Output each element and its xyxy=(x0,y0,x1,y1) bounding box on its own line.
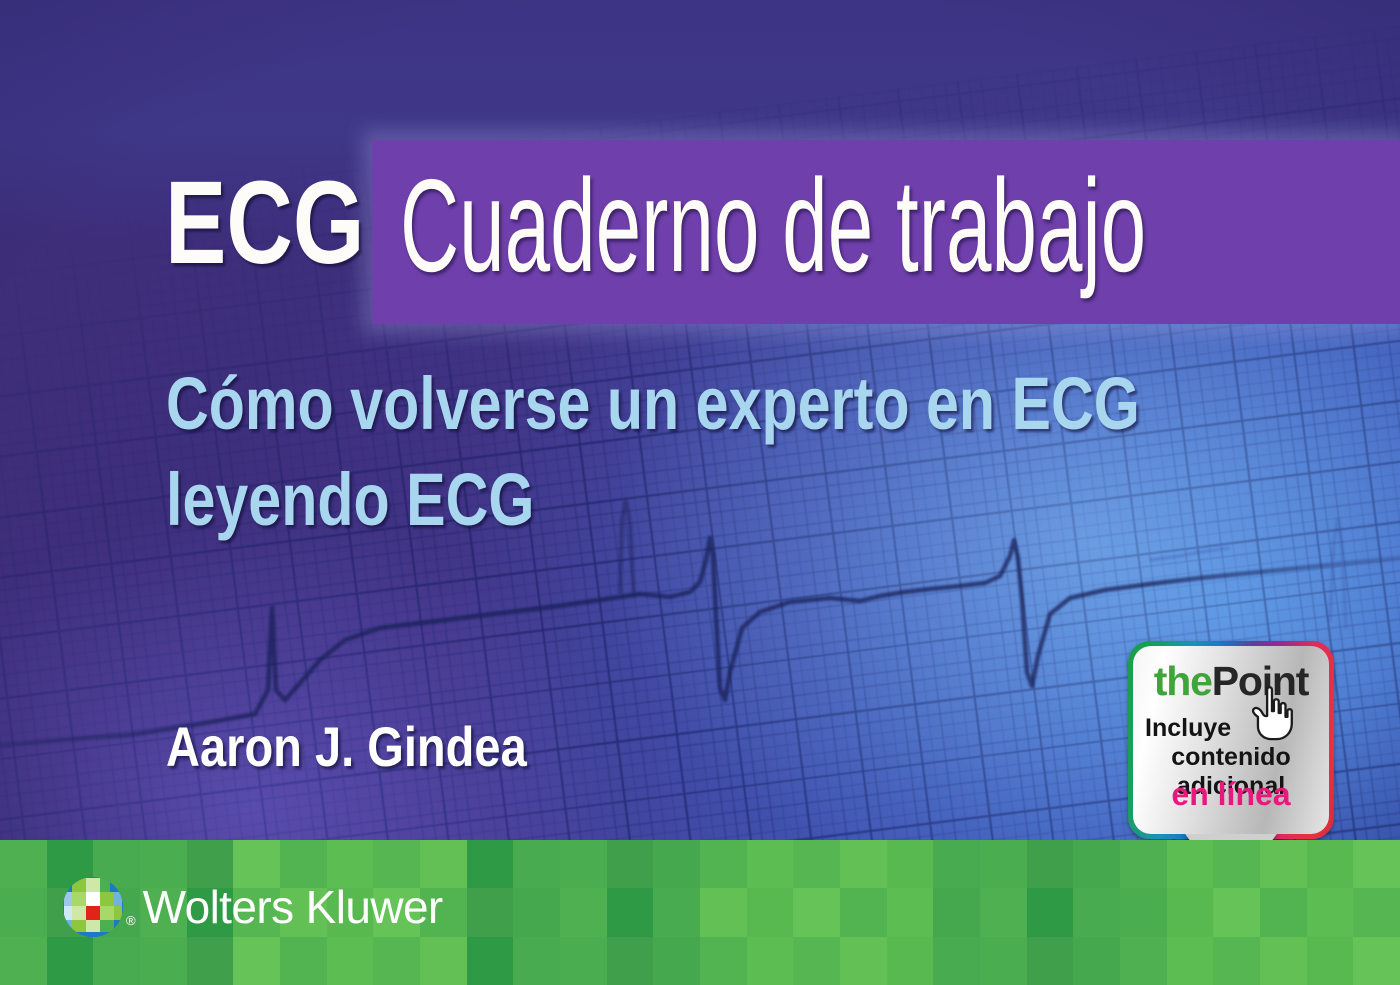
footer-tile xyxy=(467,937,514,985)
footer-tile xyxy=(1120,840,1167,888)
badge-text-line-3: en línea xyxy=(1133,775,1329,813)
footer-tile xyxy=(420,937,467,985)
cover-author: Aaron J. Gindea xyxy=(166,713,527,781)
footer-tile xyxy=(887,937,934,985)
footer-tile xyxy=(1307,937,1354,985)
footer-tile xyxy=(1260,888,1307,936)
footer-tile xyxy=(1307,888,1354,936)
footer-tile xyxy=(1073,840,1120,888)
footer-tile xyxy=(513,937,560,985)
footer-tile xyxy=(1213,840,1260,888)
footer-tile xyxy=(840,937,887,985)
publisher-name: Wolters Kluwer xyxy=(143,881,443,933)
footer-tile xyxy=(47,937,94,985)
book-cover: ECG Cuaderno de trabajo Cómo volverse un… xyxy=(0,0,1400,985)
footer-tile xyxy=(0,888,47,936)
thepoint-logo-the: the xyxy=(1154,658,1212,704)
footer-tile xyxy=(1353,840,1400,888)
footer-tile xyxy=(607,840,654,888)
footer-tile xyxy=(700,937,747,985)
cover-subtitle-line-2: leyendo ECG xyxy=(166,452,1014,548)
footer-tile xyxy=(980,888,1027,936)
footer-tile xyxy=(1027,840,1074,888)
footer-tile xyxy=(560,888,607,936)
wolters-kluwer-globe-icon xyxy=(62,876,124,938)
footer-tile xyxy=(1353,888,1400,936)
footer-tile xyxy=(793,888,840,936)
cover-subtitle-line-1: Cómo volverse un experto en ECG xyxy=(166,356,1014,452)
footer-tile xyxy=(1353,937,1400,985)
cover-main-title: Cuaderno de trabajo xyxy=(400,136,1146,316)
footer-tile xyxy=(653,937,700,985)
footer-tile xyxy=(373,937,420,985)
footer-tile xyxy=(840,840,887,888)
footer-tile xyxy=(700,840,747,888)
footer-tile xyxy=(980,937,1027,985)
footer-tile xyxy=(513,840,560,888)
badge-text-line-1: Incluye xyxy=(1133,714,1329,743)
publisher-logo: ® Wolters Kluwer xyxy=(62,876,443,938)
footer-tile xyxy=(1307,840,1354,888)
registered-mark: ® xyxy=(126,913,136,928)
footer-tile xyxy=(0,937,47,985)
title-block: ECG Cuaderno de trabajo xyxy=(0,140,1400,324)
footer-tile xyxy=(1120,937,1167,985)
footer-tile xyxy=(140,937,187,985)
footer-tile xyxy=(747,840,794,888)
footer-tile xyxy=(1260,840,1307,888)
footer-tile xyxy=(280,937,327,985)
footer-tile xyxy=(467,888,514,936)
footer-tile xyxy=(1073,888,1120,936)
thepoint-badge[interactable]: thePoint Incluye contenido adicional en … xyxy=(1128,641,1334,839)
badge-body: thePoint Incluye contenido adicional en … xyxy=(1133,646,1329,834)
footer-tile xyxy=(1167,888,1214,936)
footer-tile xyxy=(700,888,747,936)
footer-tile xyxy=(1027,888,1074,936)
footer-tile xyxy=(1213,937,1260,985)
footer-tile xyxy=(1027,937,1074,985)
footer-tile xyxy=(187,937,234,985)
footer-tile xyxy=(0,840,47,888)
footer-tile xyxy=(887,840,934,888)
footer-tile xyxy=(560,840,607,888)
footer-tile xyxy=(793,937,840,985)
footer-tile xyxy=(933,840,980,888)
cover-subtitle: Cómo volverse un experto en ECG leyendo … xyxy=(166,356,1014,548)
footer-tile xyxy=(607,888,654,936)
footer-tile xyxy=(1167,840,1214,888)
footer-tile xyxy=(1213,888,1260,936)
footer-tile xyxy=(1120,888,1167,936)
footer-tile xyxy=(93,937,140,985)
footer-tile xyxy=(1073,937,1120,985)
footer-tile xyxy=(1260,937,1307,985)
footer-tile xyxy=(933,937,980,985)
footer-tile xyxy=(653,888,700,936)
publisher-footer: ® Wolters Kluwer xyxy=(0,840,1400,985)
footer-tile xyxy=(233,937,280,985)
footer-tile xyxy=(467,840,514,888)
footer-tile xyxy=(747,888,794,936)
footer-tile xyxy=(327,937,374,985)
footer-tile xyxy=(560,937,607,985)
footer-tile xyxy=(840,888,887,936)
footer-tile xyxy=(513,888,560,936)
footer-tile xyxy=(933,888,980,936)
footer-tile xyxy=(747,937,794,985)
footer-tile xyxy=(887,888,934,936)
cover-kicker: ECG xyxy=(165,148,364,298)
thepoint-logo: thePoint xyxy=(1133,659,1329,703)
footer-tile xyxy=(793,840,840,888)
footer-tile xyxy=(607,937,654,985)
footer-tile xyxy=(980,840,1027,888)
footer-tile xyxy=(1167,937,1214,985)
footer-tile xyxy=(653,840,700,888)
